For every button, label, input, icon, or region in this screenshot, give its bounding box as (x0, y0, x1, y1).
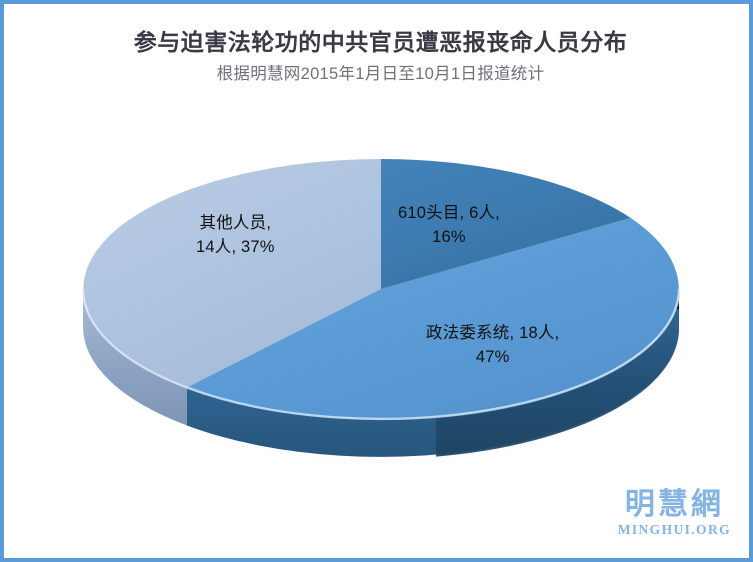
minghui-logo-english: MINGHUI.ORG (618, 523, 731, 537)
data-label-zfw: 政法委系统, 18人, 47% (426, 322, 559, 370)
data-label-other: 其他人员, 14人, 37% (196, 212, 275, 260)
pie-chart-svg (4, 4, 753, 562)
data-label-other-line2: 14人, 37% (196, 236, 275, 260)
data-label-610: 610头目, 6人, 16% (398, 202, 500, 250)
pie-chart-area (4, 4, 753, 562)
minghui-watermark: 明慧網 MINGHUI.ORG (618, 490, 731, 537)
data-label-zfw-line2: 47% (426, 346, 559, 370)
data-label-610-line2: 16% (398, 226, 500, 250)
data-label-610-line1: 610头目, 6人, (398, 204, 500, 222)
data-label-zfw-line1: 政法委系统, 18人, (426, 324, 559, 342)
pie-chart-page: 参与迫害法轮功的中共官员遭恶报丧命人员分布 根据明慧网2015年1月日至10月1… (0, 0, 753, 562)
minghui-logo-chinese: 明慧網 (618, 490, 731, 520)
data-label-other-line1: 其他人员, (200, 214, 272, 232)
